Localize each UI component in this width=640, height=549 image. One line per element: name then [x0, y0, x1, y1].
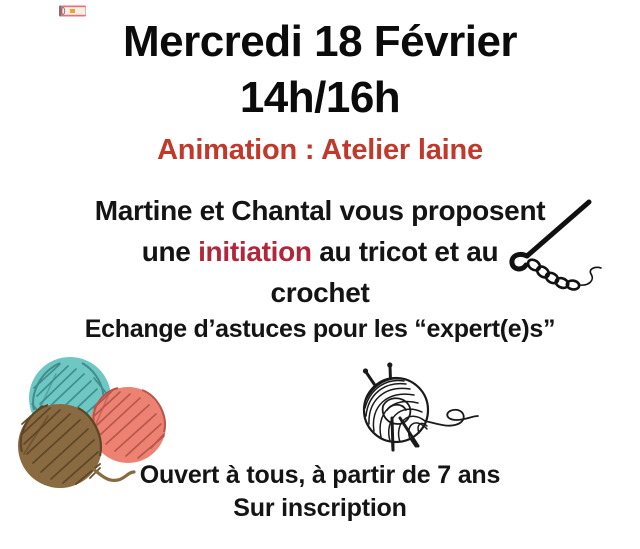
body-line-2-prefix: une [142, 236, 198, 267]
subtitle: Animation : Atelier laine [0, 133, 640, 167]
crochet-hook-icon [505, 196, 615, 306]
footer-line-registration: Sur inscription [0, 492, 640, 525]
title-line-date: Mercredi 18 Février [0, 14, 640, 70]
footer-text: Ouvert à tous, à partir de 7 ans Sur ins… [0, 459, 640, 525]
title-line-time: 14h/16h [0, 70, 640, 126]
body-line-2-highlight: initiation [198, 236, 312, 267]
footer-line-audience: Ouvert à tous, à partir de 7 ans [0, 459, 640, 492]
body-line-2-suffix: au tricot et au [312, 236, 499, 267]
astuces-line: Echange d’astuces pour les “expert(e)s” [0, 313, 640, 345]
page-title: Mercredi 18 Février 14h/16h [0, 14, 640, 126]
poster-canvas: Mercredi 18 Février 14h/16h Animation : … [0, 0, 640, 549]
knitting-yarn-ball-icon [340, 358, 485, 463]
